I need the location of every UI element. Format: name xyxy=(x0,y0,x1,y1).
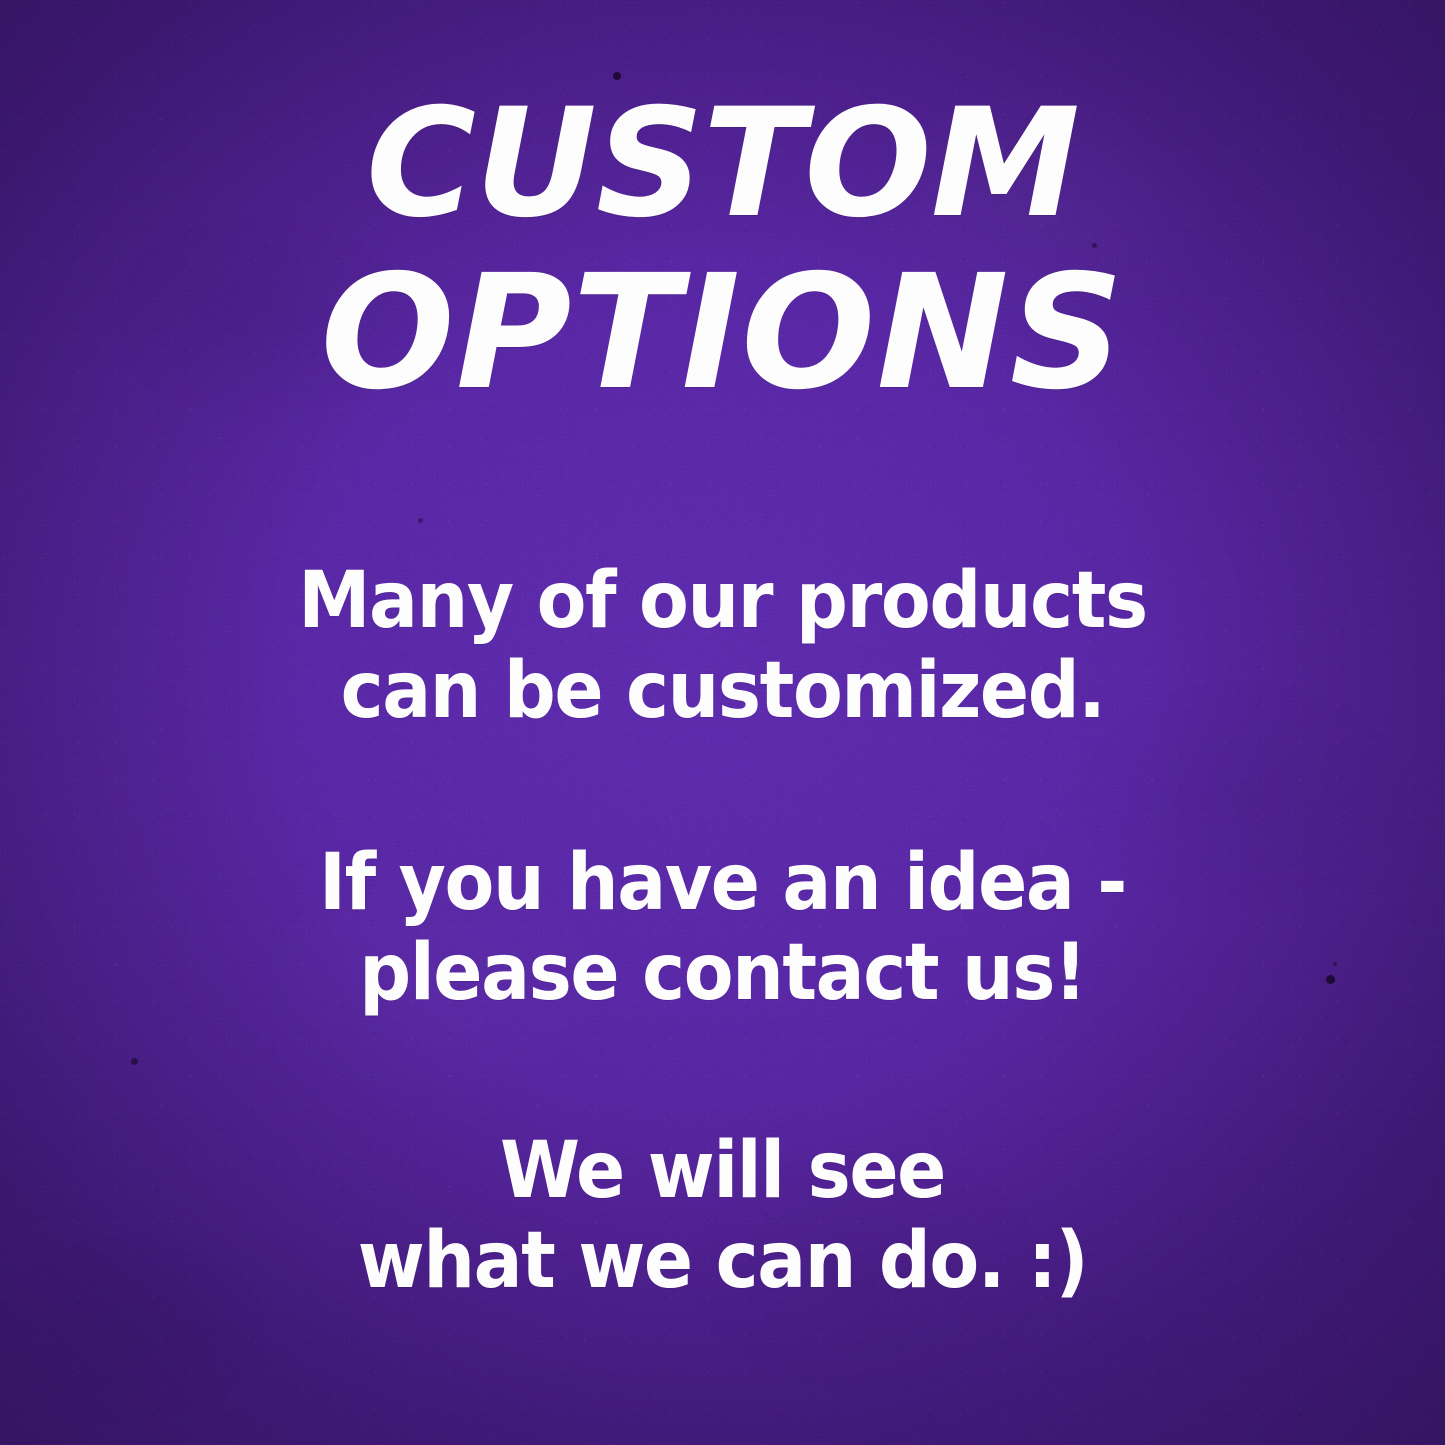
body-line: If you have an idea - xyxy=(51,838,1395,928)
custom-options-poster: CUSTOM OPTIONS Many of our products can … xyxy=(0,0,1445,1445)
headline-line-1: CUSTOM xyxy=(0,92,1445,236)
body-line: We will see xyxy=(51,1126,1395,1216)
body-line: can be customized. xyxy=(51,646,1395,736)
body-line: please contact us! xyxy=(51,928,1395,1018)
headline-text-custom: CUSTOM xyxy=(0,92,1445,236)
headline-text-options: OPTIONS xyxy=(0,258,1445,410)
body-block-closing-promise: We will see what we can do. :) xyxy=(51,1126,1395,1307)
body-line: Many of our products xyxy=(51,556,1395,646)
body-block-contact-invitation: If you have an idea - please contact us! xyxy=(51,838,1395,1019)
headline-line-2: OPTIONS xyxy=(0,258,1445,410)
body-block-products-customizable: Many of our products can be customized. xyxy=(51,556,1395,737)
body-line: what we can do. :) xyxy=(51,1216,1395,1306)
poster-content: CUSTOM OPTIONS Many of our products can … xyxy=(0,0,1445,1445)
